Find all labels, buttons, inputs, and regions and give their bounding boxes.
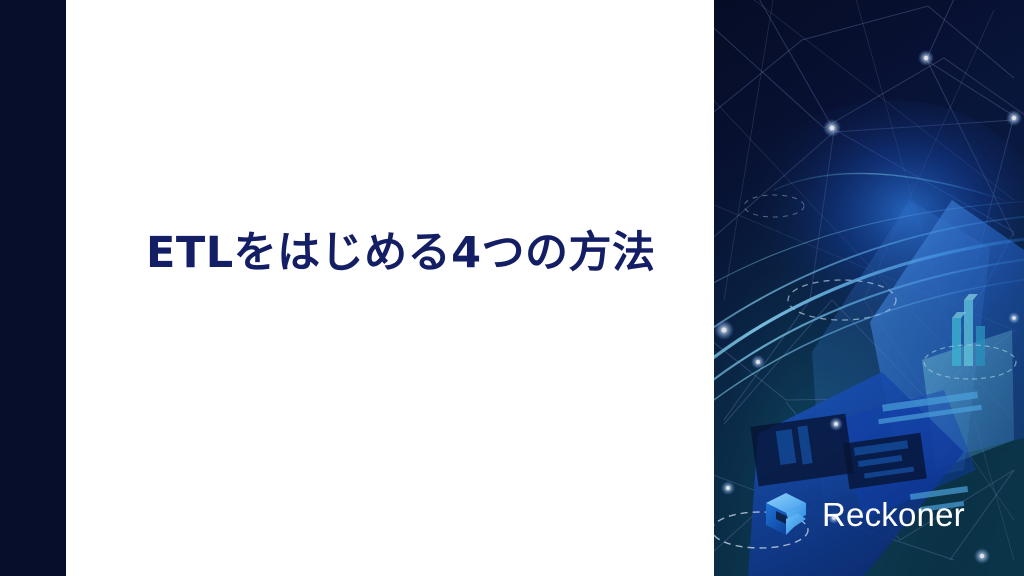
presentation-slide: ETLをはじめる4つの方法 — [0, 0, 1024, 576]
slide-title: ETLをはじめる4つの方法 — [146, 228, 686, 279]
brand-logo-lockup: Reckoner — [764, 488, 1004, 540]
brand-wordmark: Reckoner — [822, 498, 965, 531]
hero-image-panel: Reckoner — [714, 0, 1024, 576]
left-accent-bar — [0, 0, 66, 576]
reckoner-logo-mark-icon — [764, 491, 808, 537]
slide-content-area: ETLをはじめる4つの方法 — [66, 0, 714, 576]
